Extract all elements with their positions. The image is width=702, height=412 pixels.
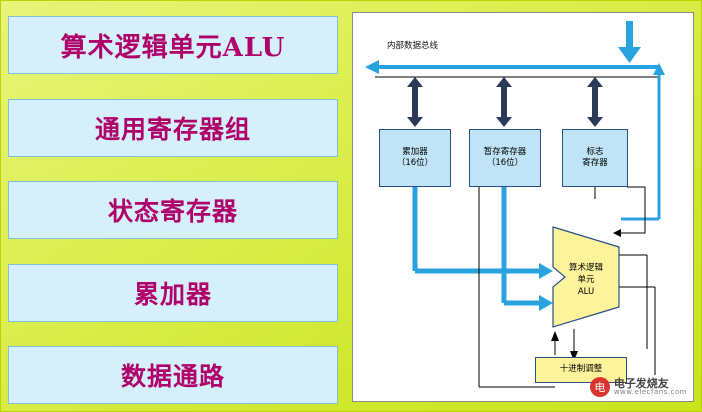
diagram-wires	[359, 19, 689, 397]
cpu-datapath-diagram: 内部数据总线 累加器 （16位） 暂存寄存器 （16位） 标志 寄存器 算术逻辑…	[352, 12, 694, 402]
list-item-label: 通用寄存器组	[95, 110, 251, 146]
watermark-logo-icon: 电	[590, 377, 610, 397]
list-item[interactable]: 状态寄存器	[8, 181, 338, 239]
block-decimal-adjust-label: 十进制调整	[560, 364, 603, 375]
concept-list: 算术逻辑单元ALU 通用寄存器组 状态寄存器 累加器 数据通路	[8, 16, 338, 404]
list-item[interactable]: 数据通路	[8, 346, 338, 404]
list-item[interactable]: 算术逻辑单元ALU	[8, 16, 338, 74]
block-alu-label: 算术逻辑 单元 ALU	[569, 255, 603, 299]
block-alu: 算术逻辑 单元 ALU	[551, 225, 621, 329]
list-item-label: 累加器	[134, 275, 212, 311]
block-temp-register: 暂存寄存器 （16位）	[469, 129, 541, 187]
block-flag-register-label: 标志 寄存器	[582, 147, 608, 170]
watermark-text: 电子发烧友 www.elecfans.com	[614, 378, 687, 397]
screenshot-root: 算术逻辑单元ALU 通用寄存器组 状态寄存器 累加器 数据通路	[0, 0, 702, 412]
block-accumulator-label: 累加器 （16位）	[397, 147, 433, 170]
diagram-canvas: 内部数据总线 累加器 （16位） 暂存寄存器 （16位） 标志 寄存器 算术逻辑…	[359, 19, 689, 397]
watermark: 电 电子发烧友 www.elecfans.com	[590, 377, 687, 397]
list-item-label: 数据通路	[121, 357, 225, 393]
list-item-label: 算术逻辑单元ALU	[61, 27, 286, 64]
list-item[interactable]: 通用寄存器组	[8, 99, 338, 157]
block-flag-register: 标志 寄存器	[562, 129, 628, 187]
block-accumulator: 累加器 （16位）	[379, 129, 451, 187]
bus-label: 内部数据总线	[387, 41, 438, 52]
block-temp-register-label: 暂存寄存器 （16位）	[484, 147, 527, 170]
watermark-url: www.elecfans.com	[614, 389, 687, 396]
list-item[interactable]: 累加器	[8, 264, 338, 322]
list-item-label: 状态寄存器	[108, 192, 238, 228]
